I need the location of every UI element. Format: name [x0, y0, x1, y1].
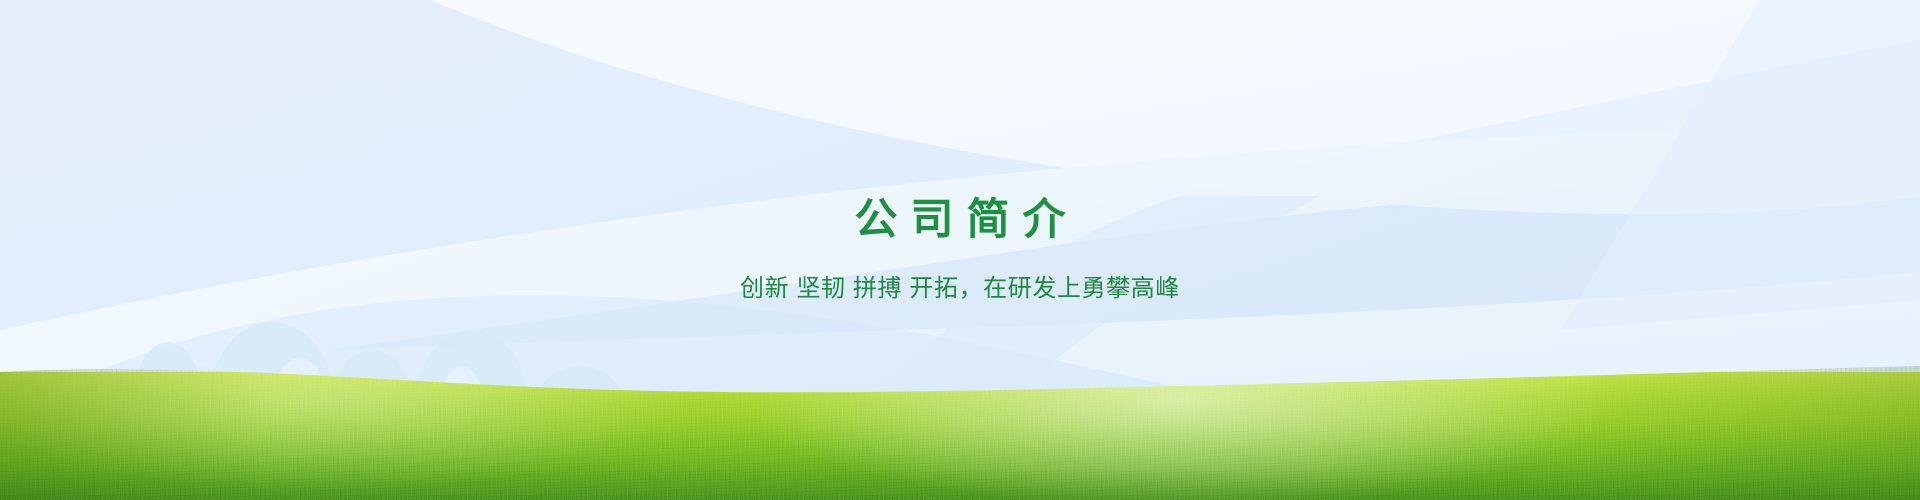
- grass-clip-definition: [0, 0, 1920, 500]
- grass-edge-shade: [0, 0, 1920, 500]
- grass-meadow: [0, 0, 1920, 500]
- page-title: 公司简介: [0, 196, 1920, 244]
- company-profile-banner: 公司简介 创新 坚韧 拼搏 开拓，在研发上勇攀高峰: [0, 0, 1920, 500]
- page-subtitle: 创新 坚韧 拼搏 开拓，在研发上勇攀高峰: [0, 275, 1920, 304]
